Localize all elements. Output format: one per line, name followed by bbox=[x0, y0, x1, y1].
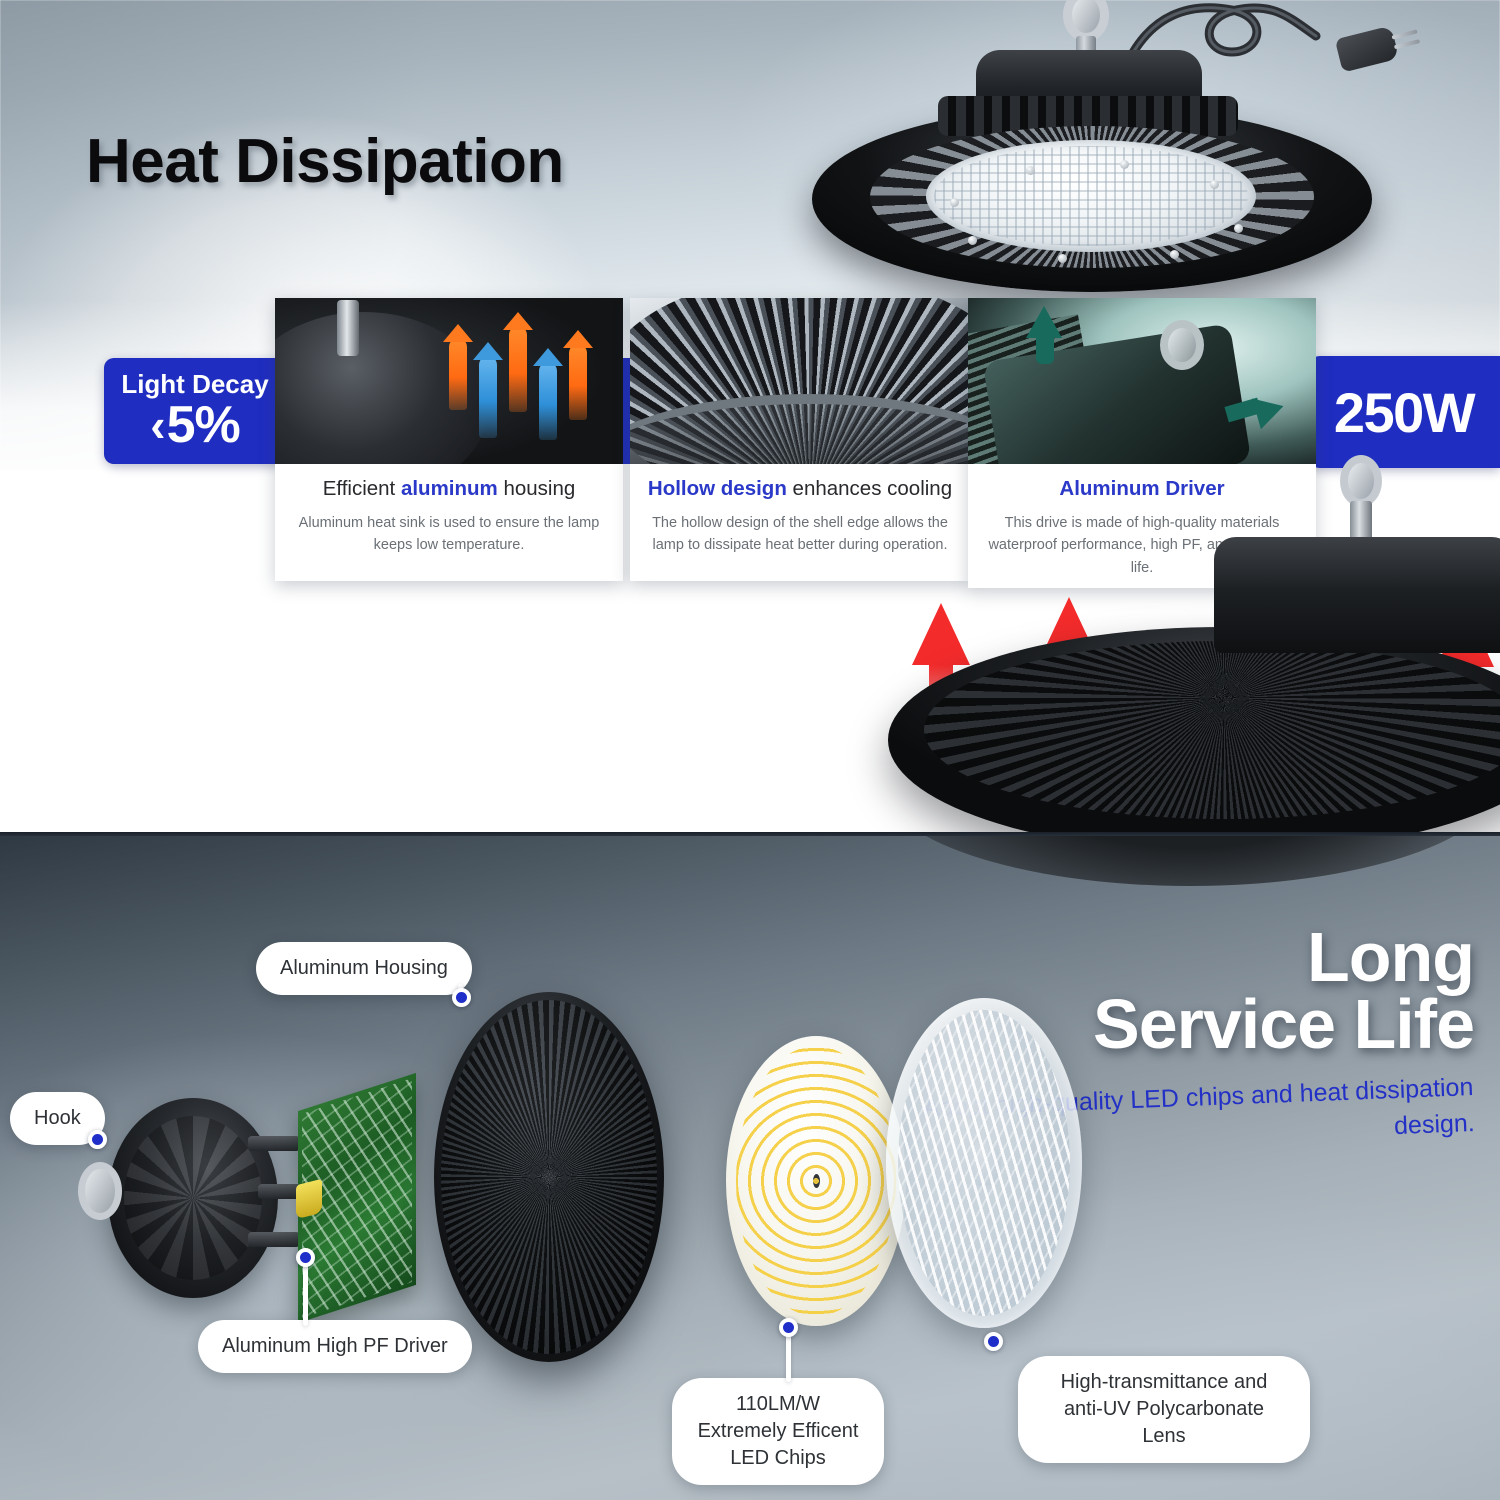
driver-up-arrow-stem bbox=[1036, 334, 1054, 364]
callout-led-chips-dot bbox=[779, 1318, 798, 1337]
lens-screw-icon bbox=[1210, 180, 1219, 189]
part-polycarbonate-lens bbox=[886, 998, 1082, 1328]
cool-air-arrow-icon bbox=[479, 356, 497, 438]
feature-card-1-image bbox=[275, 298, 623, 464]
hot-air-arrow-icon bbox=[569, 344, 587, 420]
lens-center-boss bbox=[967, 1139, 1001, 1187]
lens-screw-icon bbox=[1234, 224, 1243, 233]
housing-center-boss bbox=[539, 1164, 559, 1190]
feature-card-2-title-highlight: Hollow design bbox=[648, 477, 787, 500]
lens-screw-icon bbox=[968, 236, 977, 245]
feature-card-1-title-highlight: aluminum bbox=[401, 477, 498, 500]
lens-screw-icon bbox=[950, 198, 959, 207]
part-aluminum-housing bbox=[434, 992, 664, 1362]
hot-air-arrow-icon bbox=[449, 338, 467, 410]
wattage-badge: 250W bbox=[1308, 356, 1500, 468]
less-than-chevron-icon: ‹ bbox=[150, 402, 164, 448]
feature-card-2-image bbox=[630, 298, 970, 464]
big-lamp-hook-icon bbox=[1340, 455, 1382, 507]
part-led-chip-board bbox=[726, 1036, 906, 1326]
callout-led-chips-leader bbox=[786, 1330, 791, 1382]
light-decay-value: 5% bbox=[167, 399, 240, 451]
feature-card-1-title-pre: Efficient bbox=[323, 477, 401, 500]
callout-hook-dot bbox=[88, 1130, 107, 1149]
big-lamp-fin-ring bbox=[924, 641, 1500, 819]
callout-aluminum-housing-dot bbox=[452, 988, 471, 1007]
heat-dissipation-lamp-image bbox=[880, 455, 1500, 836]
lens-screw-icon bbox=[1170, 250, 1179, 259]
callout-aluminum-housing-label: Aluminum Housing bbox=[256, 942, 472, 995]
callout-lens-dot bbox=[984, 1332, 1003, 1351]
feature-card-1-title: Efficient aluminum housing bbox=[275, 477, 623, 501]
feature-card-1-desc: Aluminum heat sink is used to ensure the… bbox=[275, 512, 623, 557]
callout-driver-dot bbox=[296, 1248, 315, 1267]
callout-driver-label: Aluminum High PF Driver bbox=[198, 1320, 472, 1373]
light-decay-label: Light Decay bbox=[121, 371, 268, 397]
driver-hook-ring-icon bbox=[1160, 320, 1204, 370]
lens-screw-icon bbox=[1120, 160, 1129, 169]
driver-side-arrow-icon bbox=[1252, 391, 1288, 429]
hot-air-arrow-icon bbox=[509, 326, 527, 412]
feature-card-3-image bbox=[968, 298, 1316, 464]
lamp-shaft-icon bbox=[337, 300, 359, 356]
page-title: Heat Dissipation bbox=[86, 126, 564, 197]
cool-air-arrow-icon bbox=[539, 362, 557, 440]
part-hook-ring-icon bbox=[78, 1162, 122, 1220]
overlapping-lamp-shadow bbox=[880, 836, 1500, 886]
wattage-value: 250W bbox=[1334, 380, 1474, 445]
hero-lamp-lens bbox=[926, 140, 1256, 252]
light-decay-badge: Light Decay ‹ 5% bbox=[104, 358, 286, 464]
light-decay-value-row: ‹ 5% bbox=[150, 399, 239, 451]
lens-screw-icon bbox=[1058, 254, 1067, 263]
feature-card-aluminum-housing: Efficient aluminum housing Aluminum heat… bbox=[275, 298, 623, 581]
heat-dissipation-section: Heat Dissipation Light Decay ‹ 5% bbox=[0, 0, 1500, 836]
led-board-center-hole bbox=[813, 1174, 820, 1188]
airflow-arrows-group bbox=[435, 304, 623, 464]
feature-card-1-title-post: housing bbox=[498, 477, 576, 500]
big-lamp-driver-housing bbox=[1214, 537, 1500, 653]
lens-screw-icon bbox=[1026, 166, 1035, 175]
callout-led-chips-label: 110LM/W Extremely Efficent LED Chips bbox=[672, 1378, 884, 1485]
callout-lens-label: High-transmittance and anti-UV Polycarbo… bbox=[1018, 1356, 1310, 1463]
hero-lamp-product-image bbox=[790, 0, 1430, 288]
callout-driver-leader bbox=[303, 1262, 308, 1326]
